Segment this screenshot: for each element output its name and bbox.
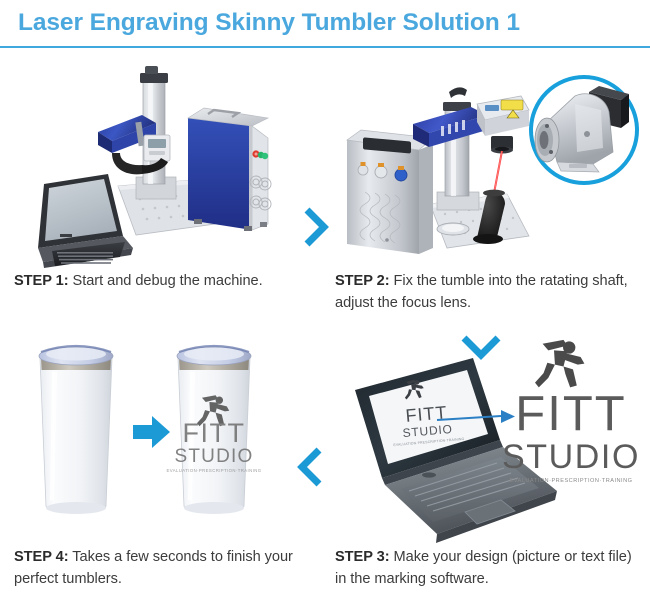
figure-tumblers: FITT STUDIO EVALUATION·PRESCRIPTION·TRAI… — [0, 328, 325, 544]
arrow-step2-to-step3 — [461, 334, 501, 360]
figure-laptop-design: FITT STUDIO EVALUATION·PRESCRIPTION·TRAI… — [325, 328, 650, 544]
figure-laser-rotary-chuck — [325, 52, 650, 268]
tumblers-illustration: FITT STUDIO EVALUATION·PRESCRIPTION·TRAI… — [0, 328, 325, 544]
laser-machine-illustration — [0, 52, 325, 268]
laser-rotary-illustration — [325, 52, 650, 268]
laser-warning-label — [501, 100, 523, 110]
step-1-caption: STEP 1: Start and debug the machine. — [14, 270, 317, 292]
step-4-label: STEP 4: — [14, 549, 69, 565]
z-axis-column-2 — [437, 87, 479, 210]
poster-header: Laser Engraving Skinny Tumbler Solution … — [0, 0, 650, 48]
svg-text:EVALUATION·PRESCRIPTION·TRAINI: EVALUATION·PRESCRIPTION·TRAINING — [166, 468, 261, 473]
infographic-poster: Laser Engraving Skinny Tumbler Solution … — [0, 0, 650, 600]
steps-grid: STEP 1: Start and debug the machine. — [0, 48, 650, 600]
tumbler-blank — [39, 346, 113, 514]
tumbler-engraved: FITT STUDIO EVALUATION·PRESCRIPTION·TRAI… — [166, 346, 261, 514]
round-fixture — [437, 223, 469, 235]
chevron-left-icon — [297, 447, 323, 487]
arrow-step1-to-step2 — [303, 207, 329, 247]
arrow-step3-to-step4 — [297, 447, 323, 487]
step-4-caption: STEP 4: Takes a few seconds to finish yo… — [14, 546, 317, 590]
step-3-caption: STEP 3: Make your design (picture or tex… — [335, 546, 642, 590]
svg-text:FITT: FITT — [515, 387, 626, 441]
svg-text:STUDIO: STUDIO — [175, 446, 254, 467]
step-panel-1: STEP 1: Start and debug the machine. — [0, 48, 325, 324]
step-2-label: STEP 2: — [335, 273, 390, 289]
svg-text:STUDIO: STUDIO — [502, 438, 640, 476]
arrow-tumbler-transform[interactable] — [133, 416, 170, 448]
svg-text:EVALUATION·PRESCRIPTION·TRAINI: EVALUATION·PRESCRIPTION·TRAINING — [509, 478, 632, 484]
step-3-label: STEP 3: — [335, 549, 390, 565]
rotary-chuck-inset — [531, 77, 637, 183]
step-1-text: Start and debug the machine. — [69, 273, 263, 289]
fitt-studio-logo: FITT STUDIO EVALUATION·PRESCRIPTION·TRAI… — [502, 340, 640, 484]
control-cabinet — [188, 108, 271, 231]
page-title: Laser Engraving Skinny Tumbler Solution … — [18, 9, 520, 37]
chevron-right-icon — [303, 207, 329, 247]
step-1-label: STEP 1: — [14, 273, 69, 289]
svg-text:FITT: FITT — [183, 418, 246, 448]
step-2-caption: STEP 2: Fix the tumble into the ratating… — [335, 270, 642, 314]
power-lamp — [262, 153, 268, 159]
laptop-design-illustration: FITT STUDIO EVALUATION·PRESCRIPTION·TRAI… — [325, 328, 650, 544]
step-panel-3: FITT STUDIO EVALUATION·PRESCRIPTION·TRAI… — [325, 324, 650, 600]
chevron-down-icon — [461, 334, 501, 360]
laser-control-cabinet — [347, 130, 433, 254]
step-panel-2: STEP 2: Fix the tumble into the ratating… — [325, 48, 650, 324]
step-panel-4: FITT STUDIO EVALUATION·PRESCRIPTION·TRAI… — [0, 324, 325, 600]
figure-laser-machine-laptop — [0, 52, 325, 268]
galvo-head-2 — [477, 96, 529, 154]
